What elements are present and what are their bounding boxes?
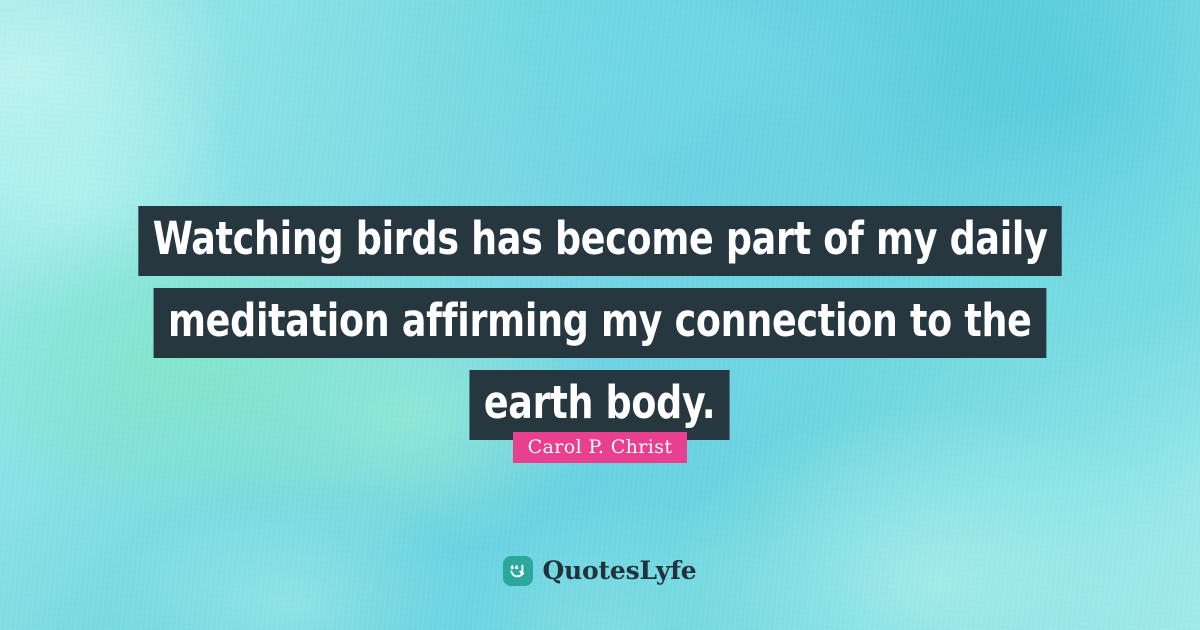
quote-line: Watching birds has become part of my dai…: [138, 206, 1062, 276]
brand-name: QuotesLyfe: [542, 557, 696, 585]
quote-line: earth body.: [470, 370, 730, 440]
quote-line: meditation affirming my connection to th…: [154, 288, 1046, 358]
author-attribution: Carol P. Christ: [0, 432, 1200, 463]
author-name-badge: Carol P. Christ: [513, 432, 688, 463]
quote-bubble-icon: [503, 556, 533, 586]
quote-poster: Watching birds has become part of my dai…: [0, 0, 1200, 630]
brand-logo[interactable]: QuotesLyfe: [0, 556, 1200, 586]
quote-text-block: Watching birds has become part of my dai…: [0, 206, 1200, 440]
